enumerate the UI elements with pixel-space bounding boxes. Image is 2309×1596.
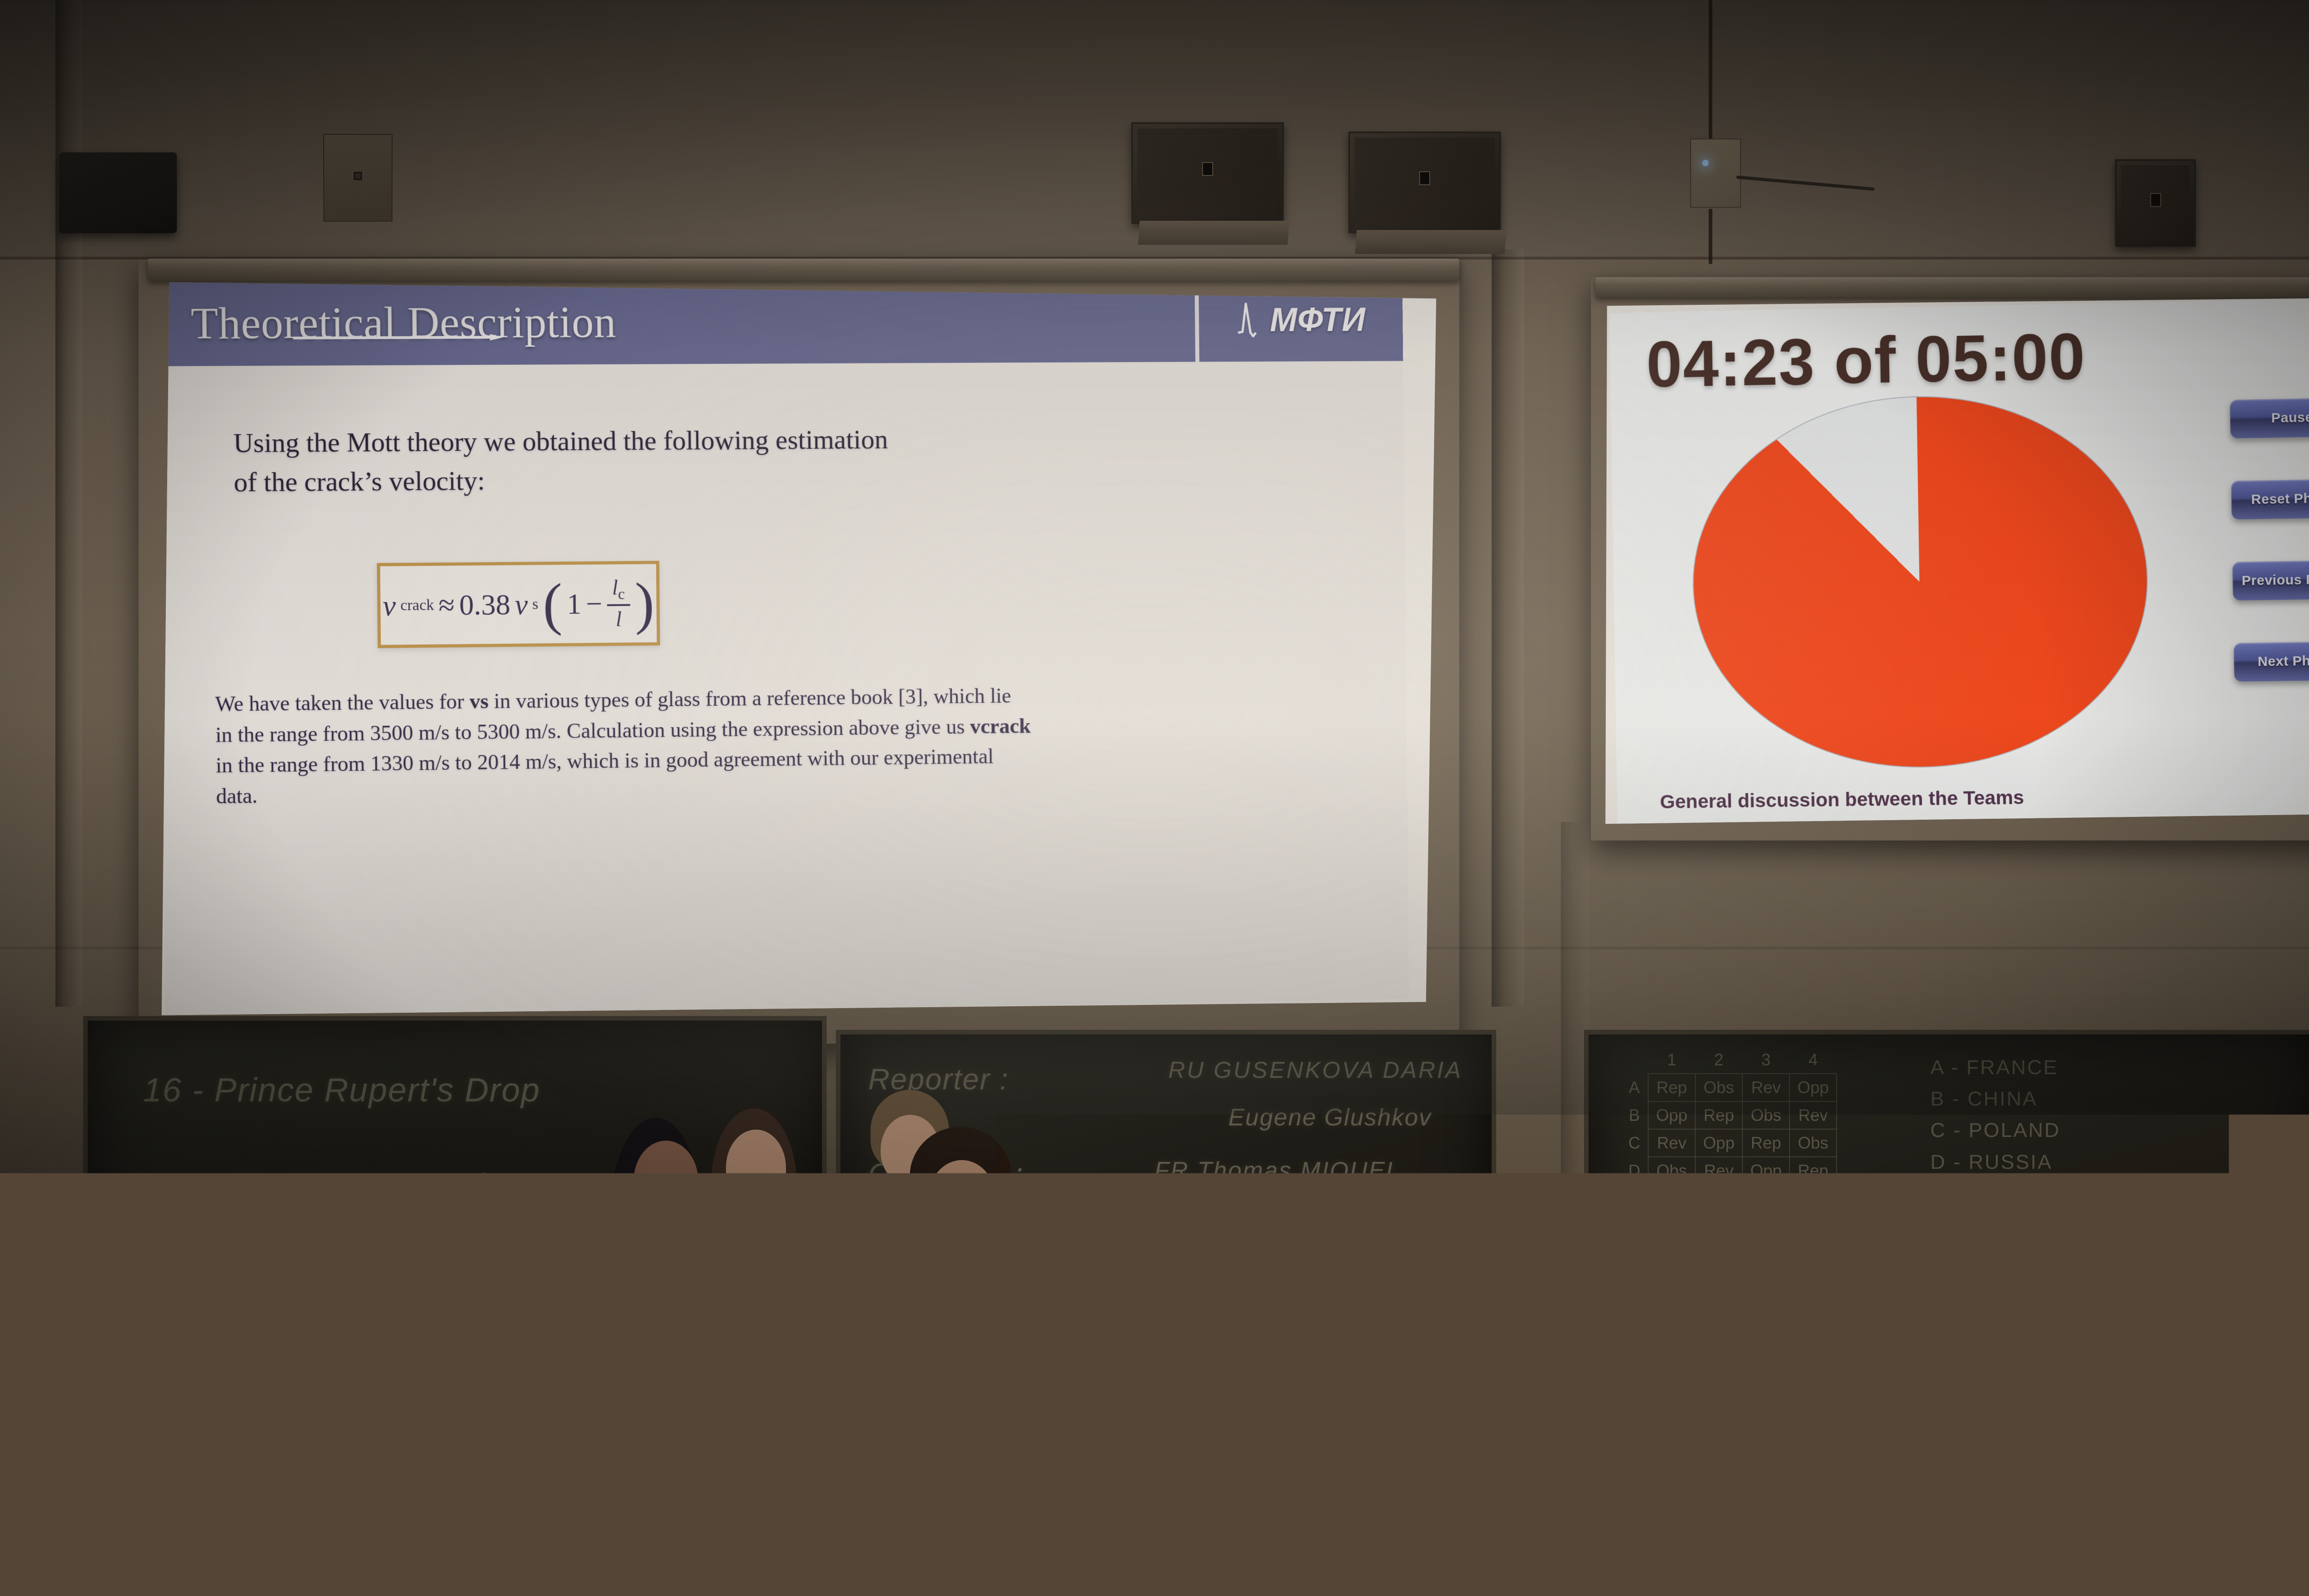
- audience-member-2: [240, 1496, 393, 1596]
- ceiling-cable: [1709, 0, 1712, 139]
- seat-back: [429, 1533, 651, 1596]
- formula-fraction-numerator: lc: [606, 577, 630, 606]
- monitor-panel: [2291, 1418, 2309, 1482]
- bottle-cap-icon: [2211, 1399, 2227, 1410]
- speaker-driver-icon: [1419, 171, 1430, 185]
- legend-item-b: B - CHINA: [1930, 1083, 2061, 1115]
- formula-velocity-symbol: v: [514, 587, 528, 622]
- slide-paragraph: We have taken the values for vs in vario…: [215, 681, 1033, 812]
- chalkboard-right: 1 2 3 4 A Rep Obs Rev Opp B Opp Rep Obs: [1584, 1030, 2309, 1325]
- table-cell: Rep: [1789, 1157, 1837, 1185]
- table-cell: Opp: [1742, 1157, 1789, 1185]
- presentation-slide: Theoretical Description МФТИ: [162, 281, 1409, 1020]
- shoulders: [1856, 1547, 2041, 1596]
- chalkboard-left-title: 16 - Prince Rupert's Drop: [143, 1071, 540, 1109]
- student-presenter-2: [702, 1108, 845, 1422]
- speaker-right: [1348, 132, 1501, 233]
- status-led-icon: [1702, 160, 1709, 166]
- table-row-header: C: [1621, 1129, 1648, 1157]
- speaker-driver-icon: [1202, 162, 1213, 176]
- slide-title-band: Theoretical Description: [162, 281, 1195, 366]
- hair: [240, 1496, 388, 1596]
- projector-screen-left: Theoretical Description МФТИ: [139, 259, 1459, 1044]
- table-cell: Rep: [1742, 1129, 1789, 1157]
- next-phase-button[interactable]: Next Phase: [2234, 641, 2309, 682]
- table-col-header: 3: [1742, 1046, 1789, 1074]
- table-header-row: 1 2 3 4: [1621, 1046, 1837, 1074]
- timer-display: 04:23 of 05:00: [1646, 319, 2086, 403]
- face: [634, 1141, 698, 1221]
- table-row: B Opp Rep Obs Rev: [1621, 1101, 1837, 1129]
- reporter-value-2: Eugene Glushkov: [1228, 1104, 1432, 1131]
- top: [707, 1224, 806, 1422]
- microphone-right: [2281, 1418, 2309, 1515]
- table-cell: Opp: [1789, 1074, 1837, 1101]
- table-cell: Obs: [1742, 1101, 1789, 1129]
- legend-item-c: C - POLAND: [1930, 1115, 2061, 1146]
- mfti-axis-icon: [293, 334, 504, 341]
- table-cell: Obs: [1695, 1074, 1742, 1101]
- table-col-header: 2: [1695, 1046, 1742, 1074]
- water-bottle: [1799, 1385, 1827, 1478]
- table-col-header: 4: [1789, 1046, 1837, 1074]
- paragraph-vcrack: vcrack: [970, 714, 1031, 738]
- hair: [1455, 1469, 1589, 1596]
- slide-header: Theoretical Description МФТИ: [162, 281, 1403, 366]
- reporter-value: RU GUSENKOVA DARIA: [1168, 1057, 1463, 1083]
- laptop-lid: [1662, 1381, 1796, 1458]
- microphone-stem: [2022, 1499, 2093, 1524]
- timer-button-group: Pause Reset Phase Previous Phase Next Ph…: [2230, 398, 2309, 682]
- screen-surface-right: 04:23 of 05:00 Pause Reset Phase Previou…: [1604, 297, 2309, 824]
- table-row: C Rev Opp Rep Obs: [1621, 1129, 1837, 1157]
- laptop-base: [1655, 1460, 1805, 1480]
- pause-button[interactable]: Pause: [2230, 398, 2309, 439]
- speaker-left: [1131, 122, 1284, 224]
- table-col-header: 1: [1648, 1046, 1695, 1074]
- formula-paren-open: (: [543, 588, 562, 620]
- formula-box: vcrack ≈ 0.38 vs ( 1 − lc l ): [377, 561, 660, 648]
- table-cell: Rev: [1789, 1101, 1837, 1129]
- mfti-logo-text: МФТИ: [1269, 300, 1366, 339]
- screen-surface-left: Theoretical Description МФТИ: [162, 281, 1436, 1020]
- table-cell: Opp: [1695, 1129, 1742, 1157]
- timer-phase-caption: General discussion between the Teams: [1660, 786, 2024, 813]
- opponent-value: FR Thomas MIQUEL: [1154, 1157, 1401, 1185]
- table-cell: Rep: [1648, 1074, 1695, 1101]
- formula-paren-close: ): [635, 587, 654, 619]
- table-cell: Rev: [1695, 1157, 1742, 1185]
- rotation-table: 1 2 3 4 A Rep Obs Rev Opp B Opp Rep Obs: [1621, 1046, 1837, 1185]
- mfti-logo: МФТИ: [1236, 300, 1366, 340]
- table-row: D Obs Rev Opp Rep: [1621, 1157, 1837, 1185]
- paper-sheet: [1199, 1487, 1336, 1547]
- formula-relation: ≈: [438, 588, 454, 622]
- slide-logo-band: МФТИ: [1195, 281, 1403, 362]
- glasses-icon: [927, 1181, 1001, 1203]
- mount-screw-icon: [354, 172, 362, 180]
- lecture-hall-scene: Theoretical Description МФТИ: [0, 0, 2309, 1596]
- speaker-far-right: [2115, 159, 2196, 247]
- laptop-brand-label: TOSHIBA: [1707, 1433, 1752, 1444]
- speaker-bottom-lip: [1138, 221, 1289, 245]
- water-bottle-2: [2205, 1409, 2232, 1494]
- wall-mount-plate-left: [323, 134, 393, 222]
- formula-num-symbol: l: [612, 576, 618, 599]
- wall-control-panel[interactable]: [1690, 139, 1741, 208]
- formula-lhs-symbol: v: [383, 588, 396, 623]
- table-cell: Rep: [1695, 1101, 1742, 1129]
- table-row-header: B: [1621, 1101, 1648, 1129]
- projector-screen-right: 04:23 of 05:00 Pause Reset Phase Previou…: [1591, 277, 2309, 840]
- slide-body: Using the Mott theory we obtained the fo…: [162, 361, 1409, 1020]
- paper-sheet: [867, 1452, 976, 1501]
- paragraph-part3: in the range from 1330 m/s to 2014 m/s, …: [216, 745, 994, 809]
- speaker-bottom-lip: [1355, 230, 1506, 254]
- slide-lead-text: Using the Mott theory we obtained the fo…: [233, 420, 898, 502]
- paper-sheet: [1629, 1499, 1770, 1554]
- bottle-label: [2205, 1445, 2232, 1467]
- paragraph-part1: We have taken the values for: [215, 689, 470, 716]
- wall-monitor: [59, 152, 177, 233]
- laptop-lid: [2066, 1409, 2195, 1489]
- chalk-rail-right: [1584, 1317, 2309, 1329]
- pie-timer-icon: [1690, 392, 2151, 770]
- audience-member-5: [2180, 1505, 2309, 1596]
- chalk-sketch-icon: [346, 1155, 540, 1265]
- paragraph-vs: vs: [469, 689, 489, 713]
- bottle-cap-icon: [1804, 1376, 1821, 1387]
- observer-value: CHI Anna ZHAO: [1136, 1255, 1330, 1283]
- legend-item-a: A - FRANCE: [1930, 1052, 2061, 1083]
- microphone-left: [2023, 1496, 2097, 1524]
- formula-coefficient: 0.38: [459, 587, 510, 622]
- audience-member-3: [1455, 1469, 1593, 1596]
- mfti-wave-icon: [1236, 300, 1267, 339]
- rotation-table-grid: 1 2 3 4 A Rep Obs Rev Opp B Opp Rep Obs: [1621, 1046, 1837, 1185]
- table-row: A Rep Obs Rev Opp: [1621, 1074, 1837, 1101]
- formula-one: 1: [567, 587, 581, 621]
- screen-valance-right: [1596, 277, 2309, 297]
- formula-lhs-subscript: crack: [400, 596, 434, 614]
- table-cell: Obs: [1789, 1129, 1837, 1157]
- timer-app: 04:23 of 05:00 Pause Reset Phase Previou…: [1609, 297, 2309, 824]
- formula-num-subscript: c: [618, 586, 625, 603]
- formula-minus: −: [586, 586, 602, 621]
- hair: [2180, 1505, 2309, 1596]
- audience-member-1: [0, 1450, 157, 1596]
- table-cell: Rev: [1742, 1074, 1789, 1101]
- bottle-label: [1799, 1424, 1827, 1448]
- formula-fraction-denominator: l: [610, 606, 627, 630]
- table-cell: Rev: [1648, 1129, 1695, 1157]
- table-corner-cell: [1621, 1046, 1648, 1074]
- speaker-driver-icon: [2150, 193, 2161, 207]
- table-row-header: A: [1621, 1074, 1648, 1101]
- panel-cable: [1709, 209, 1712, 264]
- crack-velocity-formula: vcrack ≈ 0.38 vs ( 1 − lc l ): [382, 577, 654, 632]
- table-cell: Opp: [1648, 1101, 1695, 1129]
- pilaster-center: [1492, 249, 1524, 1007]
- slide-title: Theoretical Description: [191, 296, 617, 349]
- red-case: [1390, 1418, 1505, 1469]
- laptop-toshiba[interactable]: TOSHIBA: [1662, 1381, 1796, 1480]
- previous-phase-button[interactable]: Previous Phase: [2232, 560, 2309, 600]
- formula-velocity-subscript: s: [532, 595, 538, 613]
- formula-fraction: lc l: [606, 577, 630, 630]
- pilaster-left: [55, 0, 82, 1007]
- legend-item-d: D - RUSSIA: [1930, 1147, 2061, 1178]
- audience-member-4: [1866, 1395, 2032, 1596]
- table-cell: Obs: [1648, 1157, 1695, 1185]
- country-legend: A - FRANCE B - CHINA C - POLAND D - RUSS…: [1930, 1052, 2061, 1178]
- yellow-pouch: [1029, 1444, 1130, 1488]
- screen-valance-left: [148, 259, 1459, 281]
- table-row-header: D: [1621, 1157, 1648, 1185]
- reset-phase-button[interactable]: Reset Phase: [2231, 479, 2309, 520]
- face: [726, 1130, 786, 1206]
- hair: [0, 1450, 139, 1589]
